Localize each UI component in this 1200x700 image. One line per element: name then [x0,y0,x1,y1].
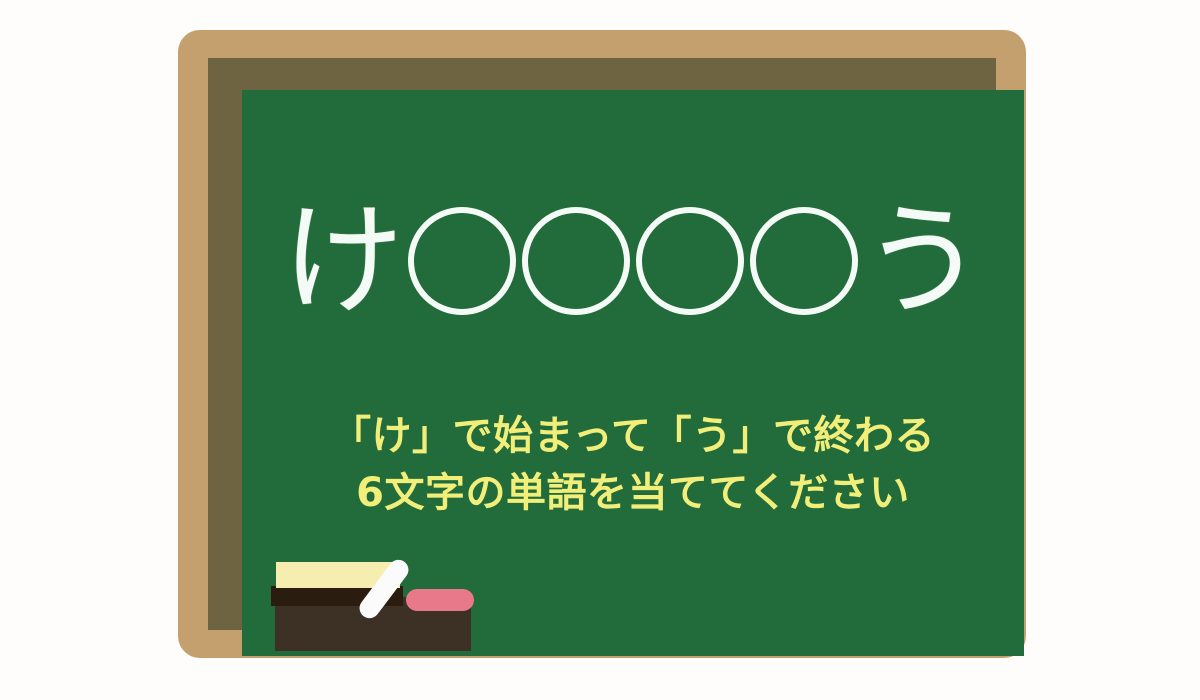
puzzle-blank-slot-1[interactable] [408,207,516,315]
chalk-stick-pink[interactable] [406,589,474,611]
hint-line-2: 6文字の単語を当ててください [242,465,1024,522]
puzzle-first-character: け [282,200,404,322]
puzzle-last-character: う [862,200,984,322]
hint-line-1: 「け」で始まって「う」で終わる [242,408,1024,465]
blackboard-scene: け う 「け」で始まって「う」で終わる 6文字の単語を当ててください [0,0,1200,700]
puzzle-blank-slot-3[interactable] [636,207,744,315]
puzzle-blank-slot-2[interactable] [522,207,630,315]
blackboard-inner-shadow: け う 「け」で始まって「う」で終わる 6文字の単語を当ててください [208,58,996,630]
puzzle-word-row: け う [242,200,1024,322]
hint-text-block: 「け」で始まって「う」で終わる 6文字の単語を当ててください [242,408,1024,522]
puzzle-blank-slot-4[interactable] [750,207,858,315]
